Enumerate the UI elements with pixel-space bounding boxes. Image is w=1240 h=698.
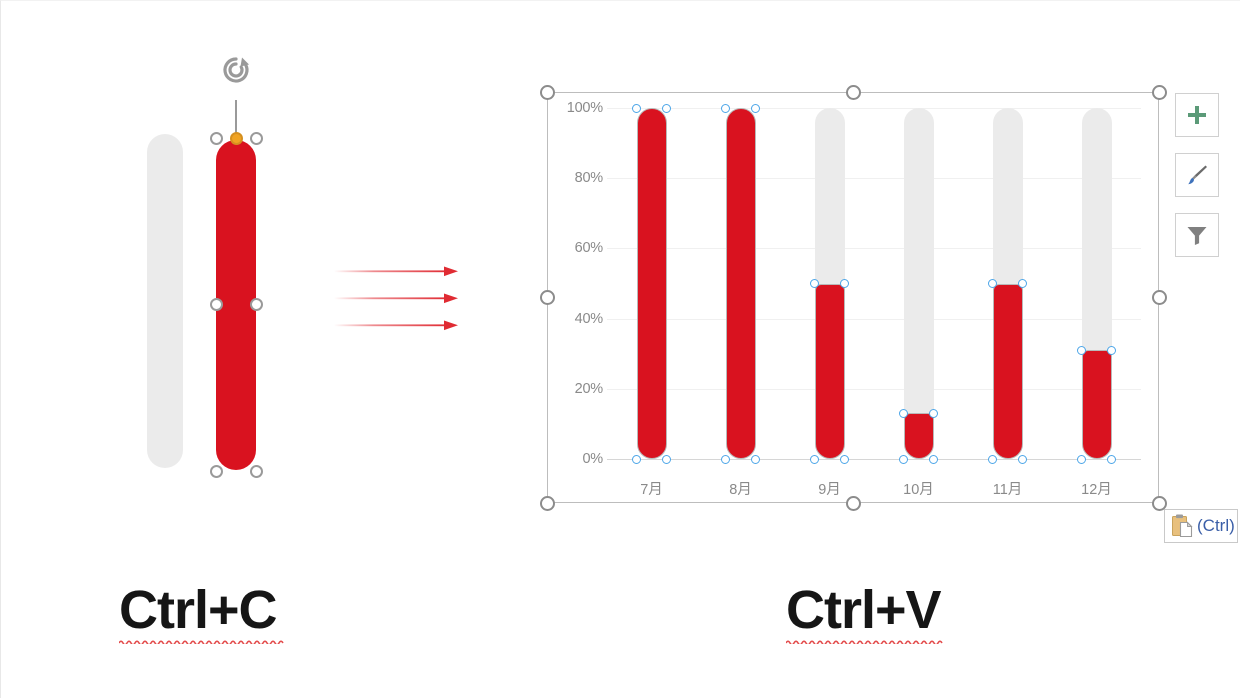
data-point-handle[interactable] [1018,279,1027,288]
chart-handle-bottom-left[interactable] [540,496,555,511]
data-point-handle[interactable] [988,279,997,288]
handle-top-right[interactable] [250,132,263,145]
data-point-handle[interactable] [751,104,760,113]
arrow-2 [334,294,458,304]
x-axis-tick-label: 7月 [640,478,663,499]
plus-icon [1185,103,1209,127]
chart-bar-track[interactable] [904,108,934,459]
handle-bottom-right[interactable] [250,465,263,478]
x-axis-tick-label: 10月 [903,478,934,499]
data-point-handle[interactable] [899,409,908,418]
chart-styles-button[interactable] [1175,153,1219,197]
chart-handle-bottom-right[interactable] [1152,496,1167,511]
data-point-handle[interactable] [929,409,938,418]
source-track-shape[interactable] [147,134,183,468]
y-gridline [607,459,1141,460]
chart-filters-button[interactable] [1175,213,1219,257]
y-gridline [607,108,1141,109]
y-axis-tick-label: 40% [551,311,603,327]
handle-bottom-left[interactable] [210,465,223,478]
rotate-icon[interactable] [219,53,253,87]
chart-handle-top-left[interactable] [540,85,555,100]
caption-paste-text: Ctrl+V [786,580,941,640]
shape-selection-frame [216,138,256,471]
y-axis-tick-label: 60% [551,240,603,256]
chart-bar-value[interactable] [637,108,667,459]
y-axis-tick-label: 0% [551,451,603,467]
chart-elements-button[interactable] [1175,93,1219,137]
handle-top-left[interactable] [210,132,223,145]
chart-bar-value[interactable] [726,108,756,459]
data-point-handle[interactable] [840,455,849,464]
chart-plot-area: 0%20%40%60%80%100%7月8月9月10月11月12月 [547,92,1159,503]
data-point-handle[interactable] [1077,455,1086,464]
paste-options-button[interactable]: (Ctrl) [1164,509,1238,543]
chart-bar-value[interactable] [1082,350,1112,459]
data-point-handle[interactable] [929,455,938,464]
data-point-handle[interactable] [751,455,760,464]
data-point-handle[interactable] [1107,346,1116,355]
x-axis-tick-label: 12月 [1081,478,1112,499]
data-point-handle[interactable] [810,455,819,464]
data-point-handle[interactable] [988,455,997,464]
slide-canvas: 0%20%40%60%80%100%7月8月9月10月11月12月 [0,0,1240,698]
chart-side-buttons [1175,93,1219,273]
y-gridline [607,389,1141,390]
data-point-handle[interactable] [721,104,730,113]
y-axis-tick-label: 80% [551,170,603,186]
y-gridline [607,319,1141,320]
transfer-arrows [331,256,481,346]
arrow-1 [334,267,458,277]
handle-middle-right[interactable] [250,298,263,311]
data-point-handle[interactable] [632,104,641,113]
source-shape-group [1,1,341,521]
y-axis-tick-label: 20% [551,381,603,397]
data-point-handle[interactable] [1077,346,1086,355]
y-gridline [607,248,1141,249]
data-point-handle[interactable] [810,279,819,288]
x-axis-tick-label: 9月 [818,478,841,499]
y-axis-tick-label: 100% [551,100,603,116]
handle-middle-left[interactable] [210,298,223,311]
chart-handle-middle-right[interactable] [1152,290,1167,305]
paste-ctrl-label: (Ctrl) [1197,516,1235,536]
caption-copy-text: Ctrl+C [119,580,277,640]
data-point-handle[interactable] [1018,455,1027,464]
data-point-handle[interactable] [632,455,641,464]
brush-icon [1184,162,1210,188]
data-point-handle[interactable] [662,104,671,113]
x-axis-tick-label: 11月 [993,478,1023,499]
y-gridline [607,178,1141,179]
funnel-icon [1185,223,1209,247]
data-point-handle[interactable] [721,455,730,464]
data-point-handle[interactable] [662,455,671,464]
data-point-handle[interactable] [840,279,849,288]
data-point-handle[interactable] [899,455,908,464]
clipboard-paste-icon [1171,513,1195,539]
arrow-3 [334,321,458,331]
chart-bar-value[interactable] [904,413,934,459]
chart-handle-top-right[interactable] [1152,85,1167,100]
caption-paste: Ctrl+V [786,579,946,644]
data-point-handle[interactable] [1107,455,1116,464]
chart-handle-middle-left[interactable] [540,290,555,305]
chart-object[interactable]: 0%20%40%60%80%100%7月8月9月10月11月12月 [547,92,1159,503]
handle-top-center-adjust[interactable] [230,132,243,145]
chart-bar-value[interactable] [993,284,1023,460]
chart-bar-value[interactable] [815,284,845,460]
caption-copy: Ctrl+C [119,579,284,644]
x-axis-tick-label: 8月 [729,478,752,499]
chart-handle-top-center[interactable] [846,85,861,100]
chart-handle-bottom-center[interactable] [846,496,861,511]
